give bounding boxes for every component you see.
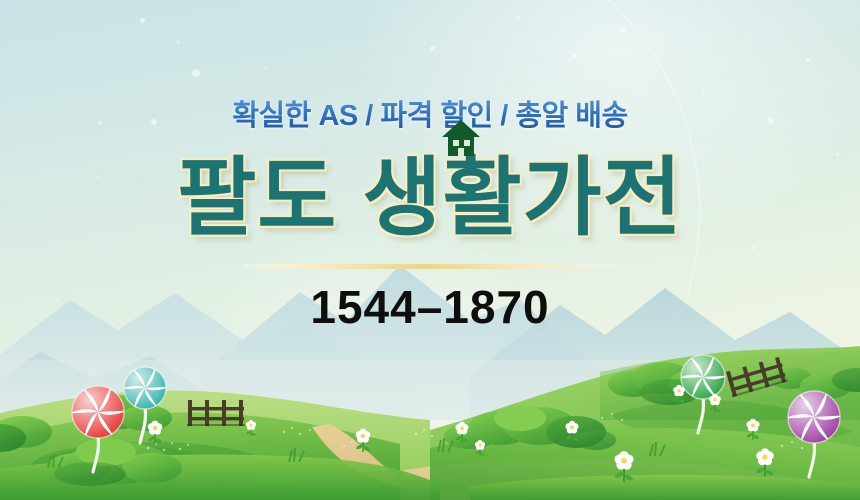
banner-text-block: 확실한 AS / 파격 할인 / 총알 배송 팔도 생활가전 1544–1870 [0,0,860,333]
lollipop-red [72,386,124,472]
flower-icon [673,385,685,404]
flower-icon [565,421,578,442]
house-icon [440,118,482,158]
fence-left [187,400,245,426]
lollipop-green [681,355,725,433]
flower-icon [246,420,256,436]
lollipop-stick [809,441,814,477]
flower-icon [455,422,468,443]
lollipop-stick [93,436,98,472]
banner-title: 팔도 생활가전 [0,150,860,246]
flower-icon [756,448,774,476]
banner-phone-number: 1544–1870 [0,281,860,333]
lollipop-purple [788,391,840,477]
banner-tagline: 확실한 AS / 파격 할인 / 총알 배송 [0,92,860,134]
flower-icon [475,440,485,456]
promo-banner: 확실한 AS / 파격 할인 / 총알 배송 팔도 생활가전 1544–1870 [0,0,860,500]
gold-divider [244,264,616,269]
flower-icon [148,421,163,445]
flower-icon [614,451,633,482]
lollipop-stick [140,407,145,443]
fence-right [725,356,788,397]
flower-icon [746,419,759,440]
lollipop-stick [698,397,703,433]
banner-title-text: 팔도 생활가전 [177,150,683,246]
flower-icon [709,394,721,413]
flower-icon [356,429,371,453]
